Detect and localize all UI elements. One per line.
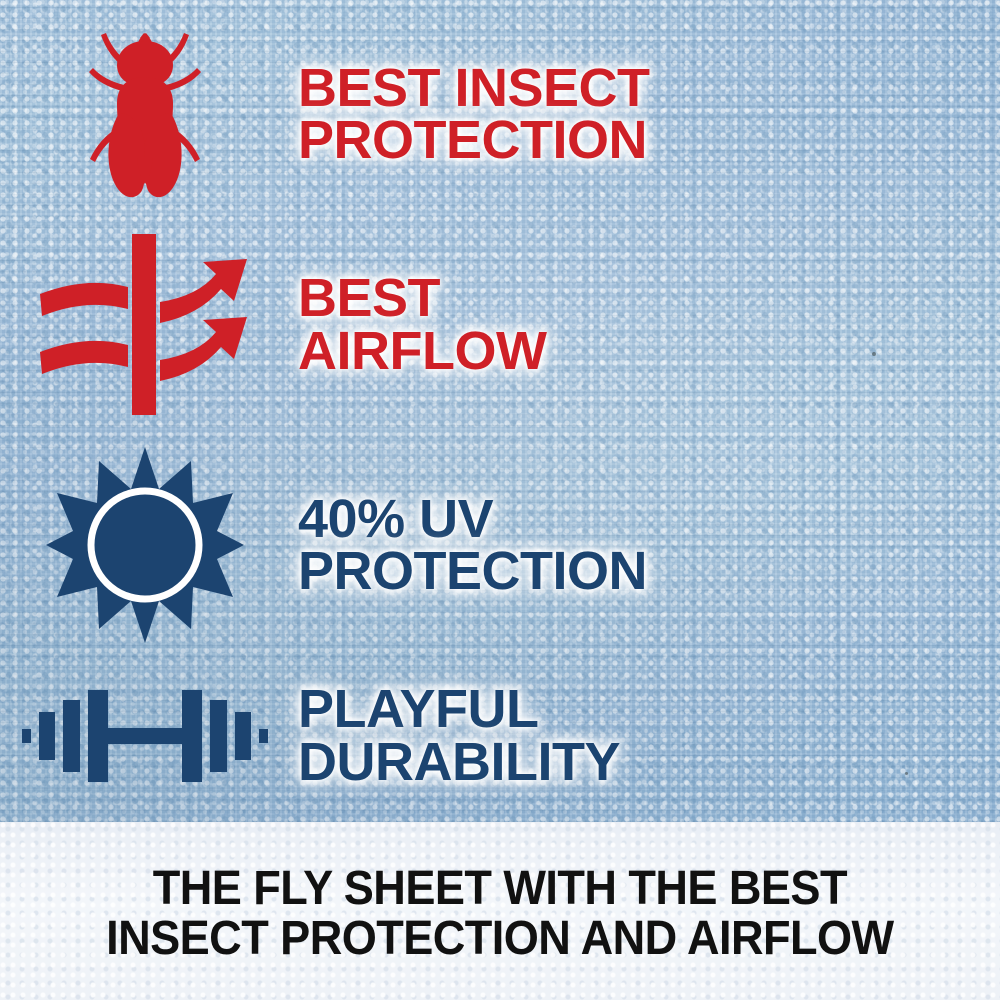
feature-label-insect-protection: BEST INSECT PROTECTION xyxy=(298,62,1000,167)
feature-label-cell: BEST INSECT PROTECTION xyxy=(290,62,1000,167)
airflow-icon xyxy=(30,232,260,417)
sun-uv-icon xyxy=(45,445,245,645)
feature-icon-cell xyxy=(0,232,290,417)
feature-label-cell: PLAYFUL DURABILITY xyxy=(290,683,1000,788)
feature-label-cell: BEST AIRFLOW xyxy=(290,272,1000,377)
feature-row-durability: PLAYFUL DURABILITY xyxy=(0,648,1000,823)
feature-icon-cell xyxy=(0,671,290,801)
feature-row-insect-protection: BEST INSECT PROTECTION xyxy=(0,14,1000,214)
feature-list: BEST INSECT PROTECTION xyxy=(0,0,1000,822)
headline-text: THE FLY SHEET WITH THE BEST INSECT PROTE… xyxy=(106,858,893,964)
feature-label-durability: PLAYFUL DURABILITY xyxy=(298,683,1000,788)
feature-icon-cell xyxy=(0,445,290,645)
feature-row-uv-protection: 40% UV PROTECTION xyxy=(0,440,1000,650)
feature-icon-cell xyxy=(0,17,290,212)
feature-label-uv-protection: 40% UV PROTECTION xyxy=(298,493,1000,598)
dumbbell-icon xyxy=(20,671,270,801)
headline-banner: THE FLY SHEET WITH THE BEST INSECT PROTE… xyxy=(0,822,1000,1000)
feature-row-airflow: BEST AIRFLOW xyxy=(0,222,1000,427)
feature-label-cell: 40% UV PROTECTION xyxy=(290,493,1000,598)
feature-label-airflow: BEST AIRFLOW xyxy=(298,272,1000,377)
product-feature-poster: BEST INSECT PROTECTION xyxy=(0,0,1000,1000)
fly-icon xyxy=(70,17,220,212)
